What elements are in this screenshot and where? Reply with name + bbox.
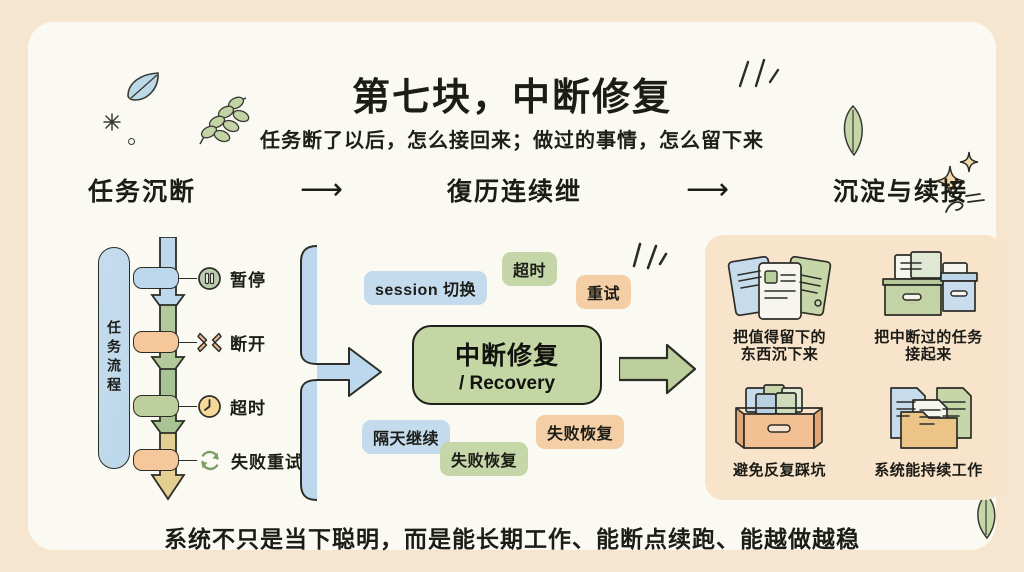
flow-step-timeout[interactable]: 超时: [197, 394, 266, 419]
emphasis-ticks-mid-icon: [628, 238, 668, 276]
flow-step-timeout-label: 超时: [230, 394, 266, 419]
flow-node-timeout[interactable]: [133, 395, 179, 417]
retry-loop-icon: [197, 448, 223, 473]
green-arrow-icon: [619, 342, 697, 396]
section-label-1: 任务沉断: [88, 172, 196, 208]
infographic-card: 第七块，中断修复 任务断了以后，怎么接回来；做过的事情，怎么留下来 任务沉断 ⟶…: [28, 22, 996, 550]
outcome-cell-4[interactable]: 系统能持续工作: [854, 368, 1003, 501]
section-label-3: 沉淀与续接: [833, 172, 968, 208]
flow-node-disconnect[interactable]: [133, 331, 179, 353]
page-title: 第七块，中断修复: [28, 66, 996, 121]
outcome-caption-4: 系统能持续工作: [874, 462, 983, 479]
section-arrow-1: ⟶: [300, 175, 343, 205]
tag-retry[interactable]: 重试: [576, 275, 631, 309]
tag-failure-recovery-green[interactable]: 失败恢复: [440, 442, 528, 476]
flow-node-retry[interactable]: [133, 449, 179, 471]
recovery-core-cn: 中断修复: [455, 336, 559, 372]
outcomes-panel: 把值得留下的 东西沉下来: [705, 235, 1003, 500]
outcome-caption-1: 把值得留下的 东西沉下来: [733, 329, 826, 363]
section-arrow-2: ⟶: [686, 175, 729, 205]
tag-timeout[interactable]: 超时: [502, 252, 557, 286]
pause-circle-icon: [197, 266, 222, 291]
task-flow-rail: 任务流程: [98, 247, 130, 469]
outcome-cell-3[interactable]: 避免反复踩坑: [705, 368, 854, 501]
recovery-core-en: / Recovery: [459, 373, 555, 395]
flow-step-disconnect-label: 断开: [230, 330, 266, 355]
task-flow-rail-label: 任务流程: [99, 248, 129, 468]
outcome-caption-2: 把中断过的任务 接起来: [874, 329, 983, 363]
section-headers: 任务沉断 ⟶ 復历连续绁 ⟶ 沉淀与续接: [88, 172, 968, 208]
section-label-2: 復历连续绁: [447, 172, 582, 208]
tag-next-day-continue[interactable]: 隔天继续: [362, 420, 450, 454]
tag-failure-recovery-orange[interactable]: 失败恢复: [536, 415, 624, 449]
flow-connector-4: [179, 460, 197, 461]
folder-documents-icon: [877, 378, 981, 460]
stacked-documents-icon: [725, 245, 835, 327]
flow-step-pause[interactable]: 暂停: [197, 266, 266, 291]
outcome-caption-3: 避免反复踩坑: [733, 462, 826, 479]
flow-node-pause[interactable]: [133, 267, 179, 289]
flow-connector-1: [179, 278, 197, 279]
file-box-icon: [728, 378, 832, 460]
flow-step-disconnect[interactable]: 断开: [197, 330, 266, 355]
outcome-cell-2[interactable]: 把中断过的任务 接起来: [854, 235, 1003, 368]
tag-session-switch[interactable]: session 切换: [364, 271, 487, 305]
page-subtitle: 任务断了以后，怎么接回来；做过的事情，怎么留下来: [28, 124, 996, 153]
storage-boxes-icon: [873, 245, 985, 327]
clock-icon: [197, 394, 222, 419]
flow-connector-3: [179, 406, 197, 407]
flow-step-pause-label: 暂停: [230, 266, 266, 291]
flow-connector-2: [179, 342, 197, 343]
footer-caption: 系统不只是当下聪明，而是能长期工作、能断点续跑、能越做越稳: [28, 520, 996, 554]
broken-link-icon: [197, 330, 222, 355]
outcome-cell-1[interactable]: 把值得留下的 东西沉下来: [705, 235, 854, 368]
recovery-core-box[interactable]: 中断修复 / Recovery: [412, 325, 602, 405]
